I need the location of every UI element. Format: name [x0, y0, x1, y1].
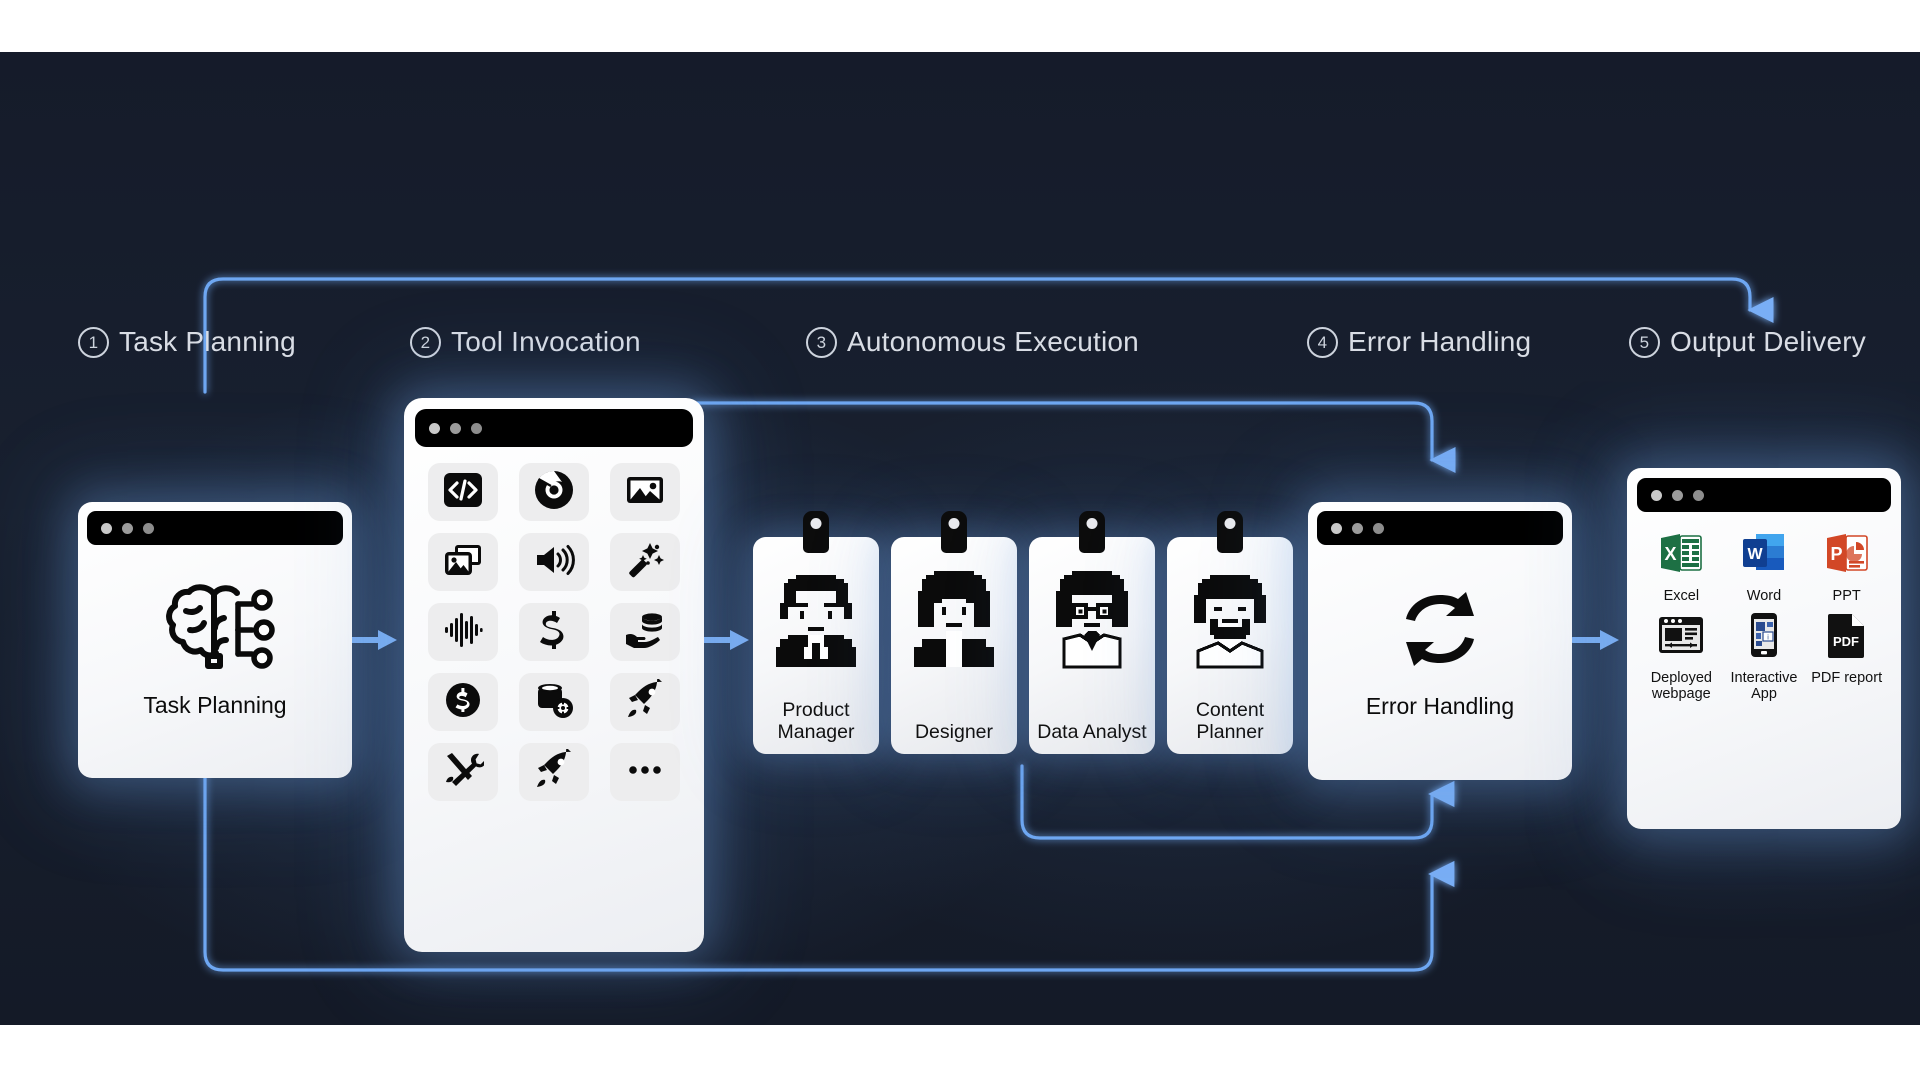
- tool-grid: [415, 447, 693, 811]
- agent-label: Content Planner: [1167, 700, 1293, 744]
- image-icon: [624, 469, 666, 516]
- svg-text:X: X: [1665, 544, 1677, 564]
- multi-image-icon: [442, 539, 484, 586]
- rocket-icon: [624, 679, 666, 726]
- step-header-3: 3 Autonomous Execution: [806, 326, 1139, 358]
- powerpoint-icon: P: [1822, 528, 1872, 583]
- database-gear-icon: [533, 679, 575, 726]
- output-label: PPT: [1833, 588, 1861, 604]
- tool-button-audio[interactable]: [519, 533, 589, 591]
- audio-waveform-icon: [442, 609, 484, 656]
- output-label: Excel: [1664, 588, 1699, 604]
- window-dot-icon: [143, 523, 154, 534]
- tool-button-utilities[interactable]: [428, 743, 498, 801]
- webpage-icon: [1656, 610, 1706, 665]
- output-delivery-panel[interactable]: X Excel W Word: [1627, 468, 1901, 829]
- window-dot-icon: [1672, 490, 1683, 501]
- window-dot-icon: [1331, 523, 1342, 534]
- hand-coins-icon: [624, 609, 666, 656]
- arrow-tools-to-agents: [700, 630, 749, 650]
- code-brackets-icon: [442, 469, 484, 516]
- svg-text:P: P: [1830, 544, 1842, 564]
- tool-button-image[interactable]: [610, 463, 680, 521]
- step-label: Error Handling: [1348, 326, 1531, 358]
- output-label: Word: [1747, 588, 1781, 604]
- excel-icon: X: [1656, 528, 1706, 583]
- tool-button-magic-edit[interactable]: [610, 533, 680, 591]
- tool-invocation-panel[interactable]: [404, 398, 704, 952]
- agent-label: Data Analyst: [1029, 722, 1155, 744]
- badge-clip-icon: [803, 511, 829, 553]
- window-titlebar: [1317, 511, 1563, 545]
- agent-label: Product Manager: [753, 700, 879, 744]
- brain-network-icon: [152, 578, 278, 683]
- step-header-1: 1 Task Planning: [78, 326, 296, 358]
- window-dot-icon: [1651, 490, 1662, 501]
- speaker-volume-icon: [533, 539, 575, 586]
- agent-badge-data-analyst[interactable]: Data Analyst: [1029, 537, 1155, 754]
- window-dot-icon: [1373, 523, 1384, 534]
- step-number-badge: 2: [410, 327, 441, 358]
- output-grid: X Excel W Word: [1637, 512, 1891, 707]
- error-handling-label: Error Handling: [1366, 694, 1514, 720]
- step-label: Autonomous Execution: [847, 326, 1139, 358]
- step-label: Output Delivery: [1670, 326, 1866, 358]
- output-label: PDF report: [1811, 670, 1882, 686]
- step-number-badge: 4: [1307, 327, 1338, 358]
- output-item-excel[interactable]: X Excel: [1643, 528, 1720, 604]
- svg-text:PDF: PDF: [1833, 634, 1859, 649]
- tool-button-more[interactable]: [610, 743, 680, 801]
- step-number-badge: 1: [78, 327, 109, 358]
- avatar-woman-bob-icon: [902, 567, 1006, 676]
- step-label: Tool Invocation: [451, 326, 641, 358]
- window-dot-icon: [471, 423, 482, 434]
- agent-badge-product-manager[interactable]: Product Manager: [753, 537, 879, 754]
- pdf-icon: PDF: [1822, 610, 1872, 665]
- magic-wand-icon: [624, 539, 666, 586]
- window-dot-icon: [1693, 490, 1704, 501]
- avatar-man-suit-icon: [764, 567, 868, 676]
- step-header-5: 5 Output Delivery: [1629, 326, 1866, 358]
- agent-badge-designer[interactable]: Designer: [891, 537, 1017, 754]
- refresh-loop-icon: [1388, 579, 1492, 684]
- output-item-pdf-report[interactable]: PDF PDF report: [1808, 610, 1885, 702]
- avatar-woman-glasses-icon: [1040, 567, 1144, 676]
- window-titlebar: [1637, 478, 1891, 512]
- output-label: Deployed webpage: [1643, 670, 1720, 702]
- error-handling-card[interactable]: Error Handling: [1308, 502, 1572, 780]
- dollar-coin-icon: [442, 679, 484, 726]
- svg-text:W: W: [1747, 546, 1763, 563]
- word-icon: W: [1739, 528, 1789, 583]
- agent-badge-content-planner[interactable]: Content Planner: [1167, 537, 1293, 754]
- task-planning-label: Task Planning: [143, 693, 286, 719]
- step-number-badge: 5: [1629, 327, 1660, 358]
- step-number-badge: 3: [806, 327, 837, 358]
- chrome-browser-icon: [533, 469, 575, 516]
- window-dot-icon: [1352, 523, 1363, 534]
- window-dot-icon: [429, 423, 440, 434]
- output-item-interactive-app[interactable]: i Interactive App: [1726, 610, 1803, 702]
- avatar-man-beard-icon: [1178, 567, 1282, 676]
- feedback-loop-tools-to-error: [692, 403, 1432, 460]
- badge-clip-icon: [1079, 511, 1105, 553]
- tool-button-waveform[interactable]: [428, 603, 498, 661]
- step-header-4: 4 Error Handling: [1307, 326, 1531, 358]
- window-dot-icon: [122, 523, 133, 534]
- step-header-2: 2 Tool Invocation: [410, 326, 641, 358]
- tools-wrench-icon: [442, 749, 484, 796]
- tool-button-database[interactable]: [519, 673, 589, 731]
- mobile-app-icon: i: [1739, 610, 1789, 665]
- window-dot-icon: [450, 423, 461, 434]
- tool-button-deploy[interactable]: [610, 673, 680, 731]
- step-label: Task Planning: [119, 326, 296, 358]
- window-titlebar: [87, 511, 343, 545]
- tool-button-code[interactable]: [428, 463, 498, 521]
- agent-label: Designer: [891, 722, 1017, 744]
- arrow-agents-to-error: [1570, 630, 1619, 650]
- badge-clip-icon: [941, 511, 967, 553]
- rocket-filled-icon: [533, 749, 575, 796]
- tool-button-finance[interactable]: [519, 603, 589, 661]
- output-item-deployed-webpage[interactable]: Deployed webpage: [1643, 610, 1720, 702]
- window-dot-icon: [101, 523, 112, 534]
- output-item-word[interactable]: W Word: [1726, 528, 1803, 604]
- tool-button-currency[interactable]: [428, 673, 498, 731]
- arrow-planning-to-tools: [348, 630, 397, 650]
- dollar-sign-icon: [533, 609, 575, 656]
- tool-button-browser[interactable]: [519, 463, 589, 521]
- window-titlebar: [415, 409, 693, 447]
- ellipsis-icon: [624, 749, 666, 796]
- diagram-root: 1 Task Planning 2 Tool Invocation 3 Auto…: [0, 0, 1920, 1080]
- output-item-ppt[interactable]: P PPT: [1808, 528, 1885, 604]
- tool-button-payments[interactable]: [610, 603, 680, 661]
- tool-button-image-gallery[interactable]: [428, 533, 498, 591]
- diagram-canvas: 1 Task Planning 2 Tool Invocation 3 Auto…: [0, 52, 1920, 1025]
- tool-button-launch[interactable]: [519, 743, 589, 801]
- badge-clip-icon: [1217, 511, 1243, 553]
- task-planning-card[interactable]: Task Planning: [78, 502, 352, 778]
- output-label: Interactive App: [1726, 670, 1803, 702]
